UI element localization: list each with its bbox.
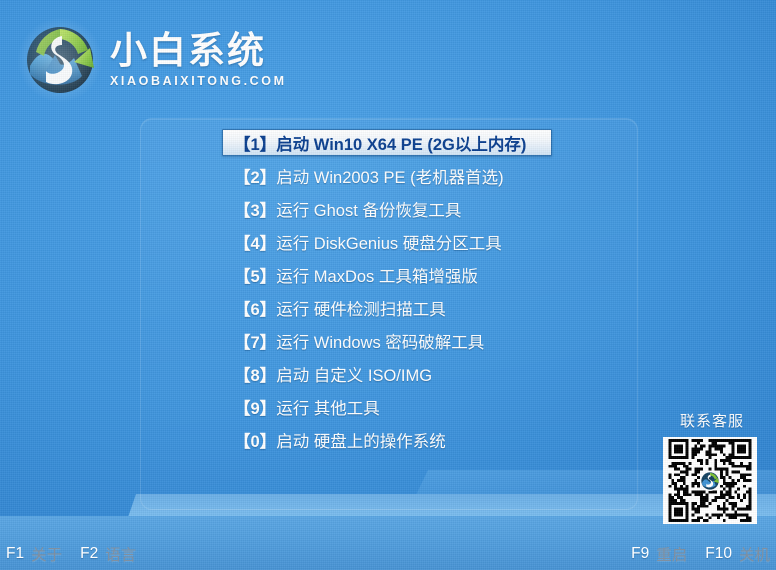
- menu-item-6[interactable]: 【6】运行 硬件检测扫描工具: [222, 294, 552, 321]
- menu-item-key: 【4】: [234, 230, 276, 254]
- menu-item-8[interactable]: 【8】启动 自定义 ISO/IMG: [222, 360, 552, 387]
- menu-item-9[interactable]: 【9】运行 其他工具: [222, 393, 552, 420]
- status-bar-left: F1关于F2语言: [6, 543, 136, 565]
- qr-center-logo-icon: [700, 471, 720, 491]
- brand-name-en: XIAOBAIXITONG.COM: [110, 74, 287, 88]
- menu-item-key: 【7】: [234, 329, 276, 353]
- menu-item-key: 【5】: [234, 263, 276, 287]
- status-bar-right: F9重启F10关机: [631, 543, 770, 565]
- menu-item-label: 运行 其他工具: [276, 395, 380, 419]
- menu-item-label: 运行 硬件检测扫描工具: [276, 296, 446, 320]
- menu-item-label: 运行 Windows 密码破解工具: [276, 329, 484, 353]
- menu-item-key: 【2】: [234, 164, 276, 188]
- hotkey-label-f10[interactable]: 关机: [739, 543, 770, 565]
- hotkey-label-f1[interactable]: 关于: [31, 543, 62, 565]
- hotkey-f10[interactable]: F10: [705, 545, 732, 563]
- menu-item-key: 【6】: [234, 296, 276, 320]
- menu-item-key: 【8】: [234, 362, 276, 386]
- menu-item-label: 启动 Win10 X64 PE (2G以上内存): [276, 131, 526, 155]
- menu-item-label: 启动 硬盘上的操作系统: [276, 428, 446, 452]
- hotkey-f9[interactable]: F9: [631, 545, 649, 563]
- menu-item-key: 【1】: [234, 131, 276, 155]
- status-bar: F1关于F2语言 F9重启F10关机: [0, 538, 776, 570]
- menu-item-key: 【0】: [234, 428, 276, 452]
- menu-item-10[interactable]: 【0】启动 硬盘上的操作系统: [222, 426, 552, 453]
- brand-logo: 小白系统 XIAOBAIXITONG.COM: [22, 22, 287, 98]
- menu-item-key: 【3】: [234, 197, 276, 221]
- menu-item-1[interactable]: 【1】启动 Win10 X64 PE (2G以上内存): [222, 129, 552, 156]
- logo-glow: [18, 18, 102, 102]
- brand-text: 小白系统 XIAOBAIXITONG.COM: [110, 32, 287, 88]
- menu-item-2[interactable]: 【2】启动 Win2003 PE (老机器首选): [222, 162, 552, 189]
- qr-logo-svg: [700, 471, 720, 491]
- customer-service-label: 联系客服: [663, 410, 761, 431]
- menu-item-4[interactable]: 【4】运行 DiskGenius 硬盘分区工具: [222, 228, 552, 255]
- xiaobai-circular-arrow-logo-icon: [22, 22, 98, 98]
- boot-menu-list[interactable]: 【1】启动 Win10 X64 PE (2G以上内存)【2】启动 Win2003…: [222, 129, 552, 459]
- menu-item-label: 启动 Win2003 PE (老机器首选): [276, 164, 503, 188]
- menu-item-7[interactable]: 【7】运行 Windows 密码破解工具: [222, 327, 552, 354]
- menu-item-label: 运行 Ghost 备份恢复工具: [276, 197, 461, 221]
- menu-item-3[interactable]: 【3】运行 Ghost 备份恢复工具: [222, 195, 552, 222]
- customer-service-block: 联系客服: [663, 410, 761, 524]
- brand-name-cn: 小白系统: [110, 32, 287, 71]
- hotkey-f1[interactable]: F1: [6, 545, 24, 563]
- hotkey-f2[interactable]: F2: [80, 545, 98, 563]
- menu-item-label: 运行 MaxDos 工具箱增强版: [276, 263, 478, 287]
- hotkey-label-f9[interactable]: 重启: [656, 543, 687, 565]
- boot-menu-screen: 小白系统 XIAOBAIXITONG.COM 【1】启动 Win10 X64 P…: [0, 0, 776, 570]
- qr-code-icon[interactable]: [663, 437, 757, 524]
- menu-item-5[interactable]: 【5】运行 MaxDos 工具箱增强版: [222, 261, 552, 288]
- menu-item-label: 启动 自定义 ISO/IMG: [276, 362, 432, 386]
- menu-item-label: 运行 DiskGenius 硬盘分区工具: [276, 230, 502, 254]
- menu-item-key: 【9】: [234, 395, 276, 419]
- hotkey-label-f2[interactable]: 语言: [105, 543, 136, 565]
